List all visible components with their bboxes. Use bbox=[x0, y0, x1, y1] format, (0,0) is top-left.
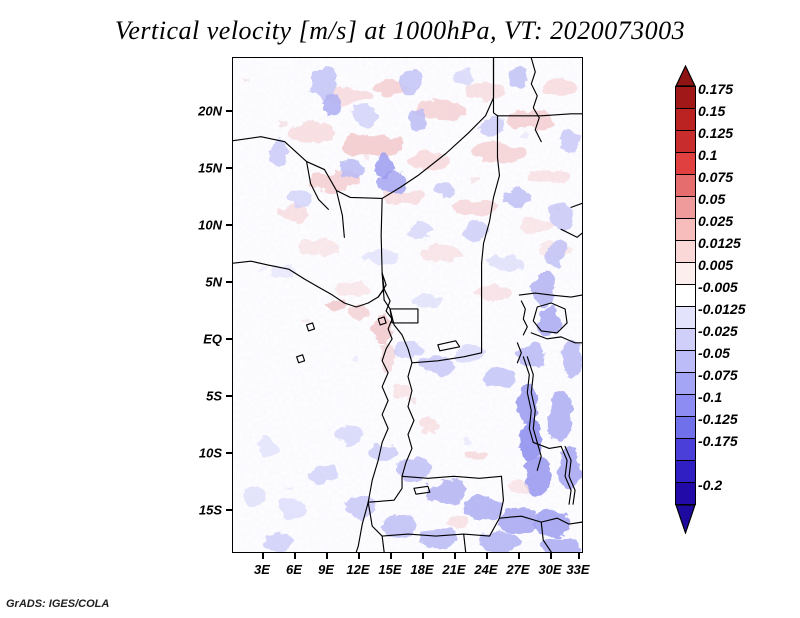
x-axis-label-27e: 27E bbox=[506, 562, 529, 577]
colorbar-cell bbox=[675, 328, 696, 351]
colorbar-cell bbox=[675, 284, 696, 307]
colorbar-cell bbox=[675, 306, 696, 329]
colorbar-cell bbox=[675, 350, 696, 373]
colorbar-cell bbox=[675, 262, 696, 285]
colorbar-tick-label: 0.005 bbox=[698, 257, 733, 273]
colorbar-cell bbox=[675, 482, 696, 505]
colorbar-tick-label: 0.125 bbox=[698, 125, 733, 141]
colorbar-cell bbox=[675, 152, 696, 175]
x-tick bbox=[486, 553, 488, 559]
y-axis-label-5n: 5N bbox=[178, 275, 222, 290]
colorbar-cell bbox=[675, 108, 696, 131]
colorbar-cell bbox=[675, 196, 696, 219]
colorbar-tick-label: 0.025 bbox=[698, 213, 733, 229]
colorbar-cell bbox=[675, 130, 696, 153]
colorbar-tick-label: 0.175 bbox=[698, 81, 733, 97]
x-tick bbox=[390, 553, 392, 559]
x-axis-label-30e: 30E bbox=[538, 562, 561, 577]
colorbar-cell bbox=[675, 460, 696, 483]
y-axis-label-5s: 5S bbox=[178, 389, 222, 404]
y-tick bbox=[226, 452, 232, 454]
colorbar-cell bbox=[675, 394, 696, 417]
y-tick bbox=[226, 395, 232, 397]
y-tick bbox=[226, 509, 232, 511]
y-tick bbox=[226, 224, 232, 226]
colorbar-tick-label: -0.05 bbox=[698, 345, 730, 361]
colorbar-tick-label: -0.075 bbox=[698, 367, 738, 383]
colorbar-tick-label: 0.1 bbox=[698, 147, 717, 163]
x-axis-label-9e: 9E bbox=[318, 562, 334, 577]
colorbar-tick-label: -0.025 bbox=[698, 323, 738, 339]
x-tick bbox=[262, 553, 264, 559]
colorbar-arrow-min bbox=[675, 504, 696, 534]
x-tick bbox=[358, 553, 360, 559]
colorbar-tick-label: 0.05 bbox=[698, 191, 725, 207]
x-tick bbox=[294, 553, 296, 559]
colorbar-tick-label: -0.1 bbox=[698, 389, 722, 405]
y-axis-label-10n: 10N bbox=[178, 218, 222, 233]
grads-credit: GrADS: IGES/COLA bbox=[6, 598, 109, 610]
x-axis-label-6e: 6E bbox=[286, 562, 302, 577]
colorbar-tick-label: -0.0125 bbox=[698, 301, 745, 317]
x-tick bbox=[550, 553, 552, 559]
colorbar-tick-label: -0.125 bbox=[698, 411, 738, 427]
colorbar-cell bbox=[675, 416, 696, 439]
colorbar-cell bbox=[675, 240, 696, 263]
colorbar-cell bbox=[675, 438, 696, 461]
colorbar-tick-label: -0.005 bbox=[698, 279, 738, 295]
x-tick bbox=[326, 553, 328, 559]
colorbar-cell bbox=[675, 218, 696, 241]
x-axis-label-12e: 12E bbox=[346, 562, 369, 577]
y-tick bbox=[226, 110, 232, 112]
coastline-and-border-overlay bbox=[233, 58, 582, 552]
map-plot-area[interactable] bbox=[232, 57, 583, 553]
colorbar-tick-label: 0.15 bbox=[698, 103, 725, 119]
colorbar-tick-label: -0.175 bbox=[698, 433, 738, 449]
colorbar-cell bbox=[675, 372, 696, 395]
y-tick bbox=[226, 281, 232, 283]
x-tick bbox=[422, 553, 424, 559]
colorbar-arrow-max bbox=[675, 65, 696, 87]
y-axis-label-eq: EQ bbox=[178, 332, 222, 347]
colorbar-cell bbox=[675, 86, 696, 109]
y-tick bbox=[226, 167, 232, 169]
x-axis-label-24e: 24E bbox=[474, 562, 497, 577]
y-axis-label-20n: 20N bbox=[178, 104, 222, 119]
x-axis-label-21e: 21E bbox=[442, 562, 465, 577]
y-axis-label-15s: 15S bbox=[178, 503, 222, 518]
colorbar-cell bbox=[675, 174, 696, 197]
page-title: Vertical velocity [m/s] at 1000hPa, VT: … bbox=[0, 16, 800, 46]
y-tick bbox=[226, 338, 232, 340]
x-axis-label-15e: 15E bbox=[378, 562, 401, 577]
x-tick bbox=[518, 553, 520, 559]
colorbar-tick-label: 0.075 bbox=[698, 169, 733, 185]
x-tick bbox=[454, 553, 456, 559]
x-tick bbox=[578, 553, 580, 559]
x-axis-label-33e: 33E bbox=[566, 562, 589, 577]
colorbar-tick-label: -0.2 bbox=[698, 477, 722, 493]
y-axis-label-10s: 10S bbox=[178, 446, 222, 461]
x-axis-label-18e: 18E bbox=[410, 562, 433, 577]
x-axis-label-3e: 3E bbox=[254, 562, 270, 577]
y-axis-label-15n: 15N bbox=[178, 161, 222, 176]
colorbar-tick-label: 0.0125 bbox=[698, 235, 741, 251]
